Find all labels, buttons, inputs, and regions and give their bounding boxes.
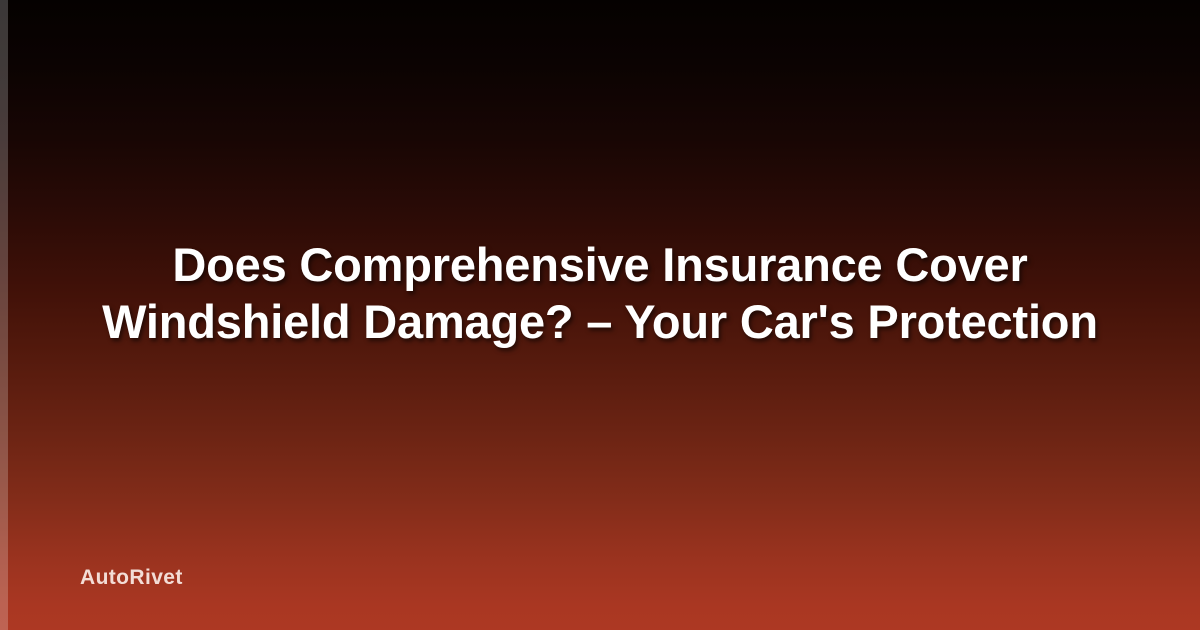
brand-wordmark: AutoRivet <box>80 566 183 590</box>
page-title: Does Comprehensive Insurance Cover Winds… <box>60 236 1140 350</box>
share-card: Does Comprehensive Insurance Cover Winds… <box>0 0 1200 630</box>
left-edge-highlight-strip <box>0 0 8 630</box>
